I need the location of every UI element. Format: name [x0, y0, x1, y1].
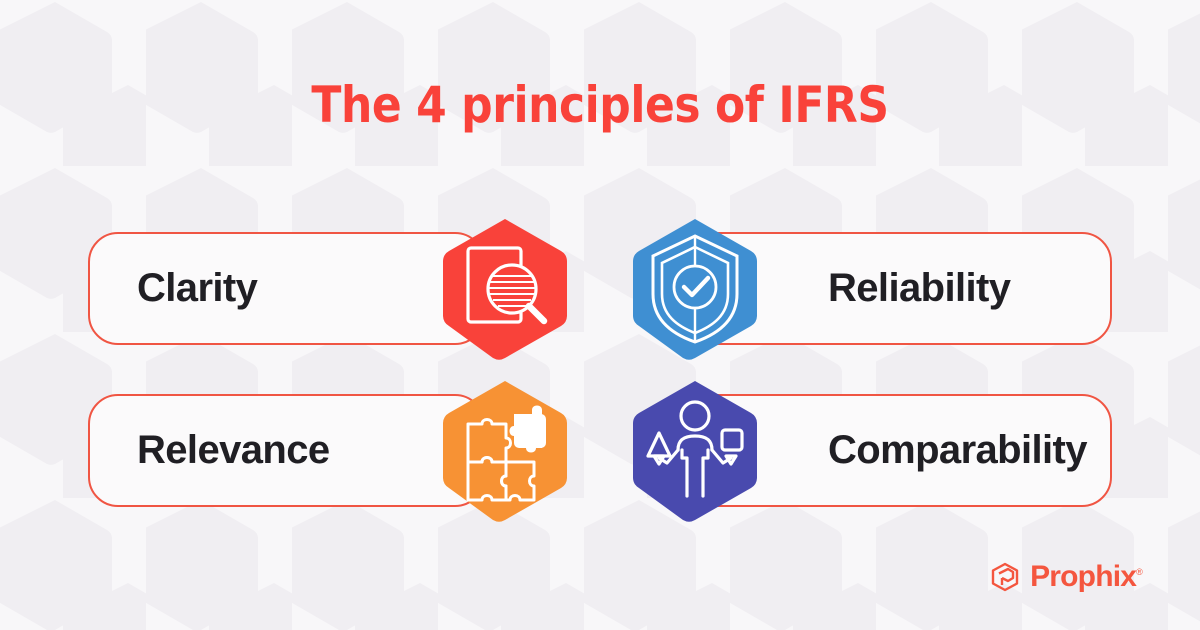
principle-card-relevance[interactable]: Relevance — [88, 394, 485, 507]
prophix-wordmark: Prophix® — [1030, 560, 1142, 594]
prophix-logo: Prophix® — [989, 560, 1142, 594]
shield-check-icon — [630, 216, 760, 361]
trademark-symbol: ® — [1136, 567, 1142, 577]
principle-label-comparability: Comparability — [828, 428, 1087, 473]
principle-label-relevance: Relevance — [137, 428, 330, 473]
document-magnifier-icon — [440, 216, 570, 361]
principle-label-clarity: Clarity — [137, 266, 257, 311]
prophix-cube-icon — [989, 561, 1021, 593]
person-comparing-shapes-icon — [630, 378, 760, 523]
principle-card-clarity[interactable]: Clarity — [88, 232, 485, 345]
prophix-name: Prophix — [1030, 560, 1136, 593]
puzzle-pieces-icon — [440, 378, 570, 523]
principle-label-reliability: Reliability — [828, 266, 1010, 311]
page-title: The 4 principles of IFRS — [72, 76, 1128, 134]
